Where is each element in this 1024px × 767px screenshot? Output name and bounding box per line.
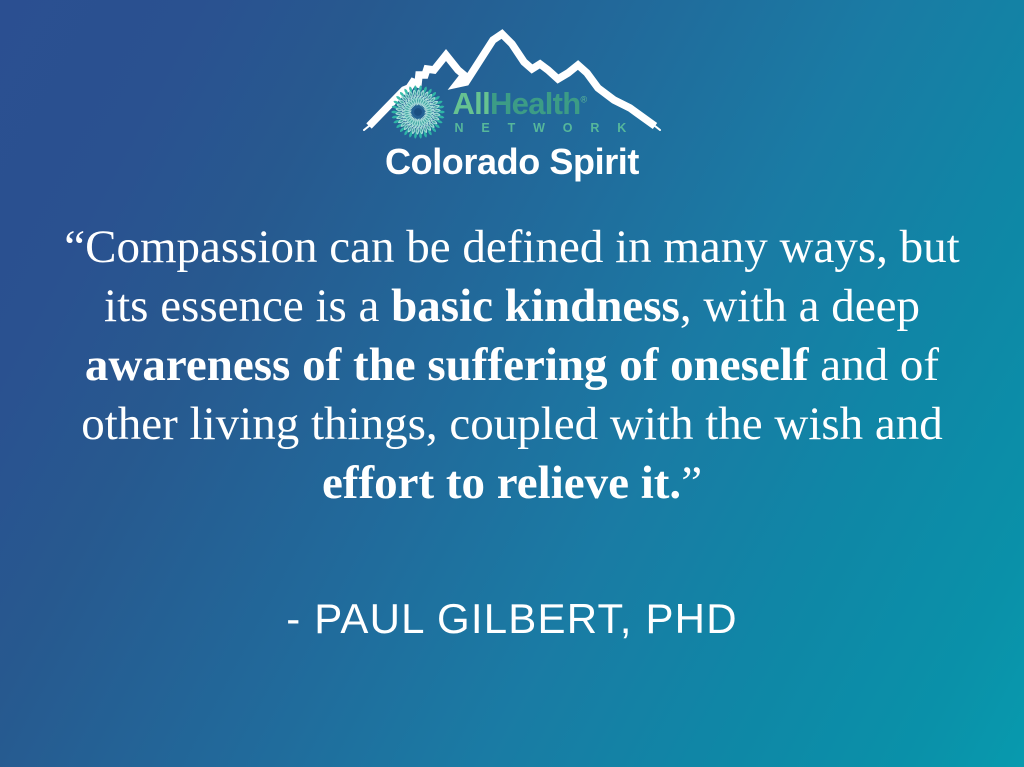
quote-card: AllHealth® N E T W O R K Colorado Spirit… [0,0,1024,767]
quote-line-1-text: “Compassion can be defined in many ways,… [64,221,959,273]
program-title: Colorado Spirit [362,144,662,180]
brand-name-allhealth: AllHealth® [452,88,633,119]
quote-line-2-part-c: , with a deep [680,280,920,332]
quote-closing-mark: ” [681,457,702,509]
quote-line-5: effort to relieve it.” [28,454,996,513]
quote-text: “Compassion can be defined in many ways,… [0,218,1024,513]
quote-line-1: “Compassion can be defined in many ways,… [28,218,996,277]
brand-mark-row: AllHealth® N E T W O R K [362,84,662,140]
quote-line-4: other living things, coupled with the wi… [28,395,996,454]
brand-name-health: Health [490,86,581,121]
quote-emphasis-awareness: awareness of the suffering of oneself [85,339,809,391]
quote-attribution: - PAUL GILBERT, PHD [0,596,1024,642]
quote-line-2-part-a: its essence is a [104,280,391,332]
registered-trademark-icon: ® [581,94,588,104]
sunburst-mandala-icon [390,84,446,140]
quote-emphasis-effort: effort to relieve it. [322,457,681,509]
quote-line-2: its essence is a basic kindness, with a … [28,277,996,336]
logo-stack: AllHealth® N E T W O R K Colorado Spirit [362,22,662,182]
quote-line-3-part-b: and of [809,339,940,391]
logo-block: AllHealth® N E T W O R K Colorado Spirit [0,22,1024,182]
quote-line-4-text: other living things, coupled with the wi… [81,398,943,450]
quote-emphasis-basic-kindness: basic kindness [391,280,680,332]
wordmark: AllHealth® N E T W O R K [452,88,633,137]
brand-name-all: All [452,86,490,121]
brand-name-network: N E T W O R K [452,122,633,135]
quote-line-3: awareness of the suffering of oneself an… [28,336,996,395]
